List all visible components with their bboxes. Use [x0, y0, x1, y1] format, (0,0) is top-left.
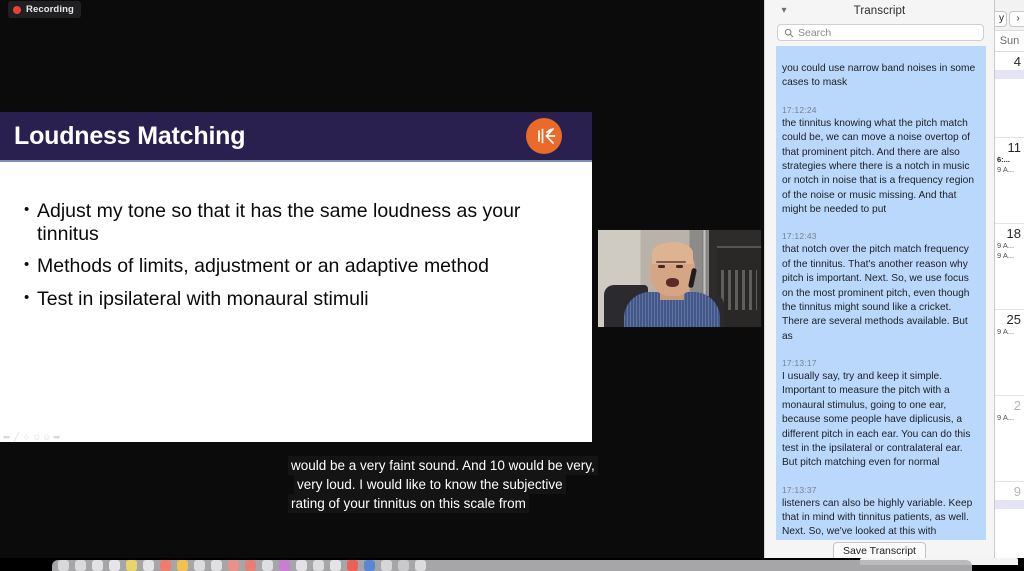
calendar-today-button[interactable]: y — [995, 11, 1007, 27]
transcript-entry[interactable]: you could use narrow band noises in some… — [776, 62, 986, 98]
slide-header: Loudness Matching — [0, 112, 592, 162]
calendar-date-number: 18 — [995, 226, 1021, 241]
dock-icon-reminders[interactable] — [143, 560, 154, 571]
recording-label: Recording — [26, 4, 74, 15]
search-input[interactable]: Search — [777, 24, 984, 41]
screen-share-stage: Recording > Loudness Matching — [0, 0, 764, 558]
caption-line: rating of your tinnitus on this scale fr… — [288, 494, 529, 513]
calendar-window[interactable]: y › Sun 4 11 6:... 9 A... 18 9 A... 9 A.… — [995, 0, 1024, 562]
transcript-entry-text-partial — [782, 46, 980, 62]
calendar-day-cell[interactable]: 4 — [995, 52, 1024, 138]
caption-line: would be a very faint sound. And 10 woul… — [288, 456, 598, 475]
calendar-date-number: 11 — [995, 140, 1021, 155]
transcript-timestamp: 17:13:17 — [782, 351, 980, 370]
dock-icon-pages[interactable] — [330, 560, 341, 571]
transcript-timestamp: 17:13:37 — [782, 478, 980, 497]
transcript-entry[interactable]: 17:13:17 I usually say, try and keep it … — [776, 351, 986, 478]
pen-tool-icon[interactable]: ╱ — [12, 433, 21, 442]
dock-icon-terminal[interactable] — [381, 560, 392, 571]
slide-bullet-text: Methods of limits, adjustment or an adap… — [37, 255, 570, 278]
dock-icon-mail[interactable] — [109, 560, 120, 571]
dock-icon-maps[interactable] — [228, 560, 239, 571]
video-bottles — [721, 270, 757, 310]
caption-line: very loud. I would like to know the subj… — [294, 475, 566, 494]
dock-icon-photos[interactable] — [177, 560, 188, 571]
calendar-event[interactable]: 6:... — [995, 155, 1021, 165]
calendar-day-cell[interactable]: 2 9 A... — [995, 396, 1024, 482]
bullet-marker-icon: • — [24, 200, 37, 246]
caption-row: very loud. I would like to know the subj… — [288, 475, 668, 494]
transcript-timestamp: 17:12:43 — [782, 224, 980, 243]
transcript-entry[interactable]: 17:13:37 listeners can also be highly va… — [776, 478, 986, 541]
calendar-event[interactable]: 9 A... — [995, 165, 1021, 175]
calendar-day-cell[interactable]: 25 9 A... — [995, 310, 1024, 396]
calendar-date-number: 25 — [995, 312, 1021, 327]
presenter-brow — [656, 261, 686, 263]
presenter-mouth — [666, 278, 679, 287]
calendar-day-cell[interactable]: 18 9 A... 9 A... — [995, 224, 1024, 310]
calendar-next-button[interactable]: › — [1009, 11, 1024, 27]
sound-wave-icon — [526, 118, 562, 154]
caption-row: rating of your tinnitus on this scale fr… — [288, 494, 668, 513]
annotation-toolbar[interactable]: ⬅ ╱ ○ ☺ ☺ ➡ — [2, 433, 61, 442]
dock-icon-podcasts[interactable] — [279, 560, 290, 571]
dock-icon-finder[interactable] — [58, 560, 69, 571]
transcript-entry[interactable]: 17:12:24 the tinnitus knowing what the p… — [776, 98, 986, 225]
slide-title: Loudness Matching — [14, 124, 526, 149]
calendar-day-cell[interactable]: 9 — [995, 482, 1024, 562]
slide-bullet: • Adjust my tone so that it has the same… — [24, 200, 570, 246]
transcript-entry-text: I usually say, try and keep it simple. I… — [782, 370, 980, 478]
dock-bar[interactable] — [52, 560, 972, 571]
transcript-entry[interactable]: 17:12:43 that notch over the pitch match… — [776, 224, 986, 351]
dock-icon-launchpad[interactable] — [75, 560, 86, 571]
ellipse-tool-icon[interactable]: ○ — [22, 433, 31, 442]
dock-icon-trash[interactable] — [415, 560, 426, 571]
emoji-tool-icon[interactable]: ☺ — [42, 433, 51, 442]
recording-dot-icon — [13, 6, 21, 14]
closed-captions: would be a very faint sound. And 10 woul… — [288, 456, 668, 513]
dock-icon-notes[interactable] — [126, 560, 137, 571]
slide-bullet: • Test in ipsilateral with monaural stim… — [24, 288, 570, 311]
transcript-header: ▾ Transcript — [765, 0, 994, 22]
presenter-eye — [676, 265, 683, 268]
transcript-entry[interactable] — [776, 46, 986, 62]
bullet-marker-icon: • — [24, 255, 37, 278]
dock-icon-appstore[interactable] — [262, 560, 273, 571]
dock-icon-safari[interactable] — [92, 560, 103, 571]
transcript-list[interactable]: you could use narrow band noises in some… — [776, 46, 986, 541]
arrow-left-tool-icon[interactable]: ⬅ — [2, 433, 11, 442]
calendar-event[interactable]: 9 A... — [995, 327, 1021, 337]
presenter-eye — [658, 265, 665, 268]
transcript-entry-text: you could use narrow band noises in some… — [782, 62, 980, 98]
bullet-marker-icon: • — [24, 288, 37, 311]
calendar-event[interactable]: 9 A... — [995, 251, 1021, 261]
dock-icon-music[interactable] — [160, 560, 171, 571]
calendar-toolbar: y › — [995, 0, 1024, 31]
recording-indicator: Recording — [8, 1, 81, 18]
macos-dock[interactable] — [0, 558, 1024, 571]
calendar-day-tint — [995, 70, 1024, 79]
transcript-entry-text: listeners can also be highly variable. K… — [782, 497, 980, 541]
transcript-entry-text: that notch over the pitch match frequenc… — [782, 243, 980, 351]
calendar-date-number: 9 — [995, 484, 1021, 499]
presentation-slide: Loudness Matching • Adjust my tone — [0, 112, 592, 442]
transcript-entry-text: the tinnitus knowing what the pitch matc… — [782, 117, 980, 225]
dock-icon-calendar[interactable] — [211, 560, 222, 571]
arrow-right-tool-icon[interactable]: ➡ — [52, 433, 61, 442]
slide-bullet-text: Test in ipsilateral with monaural stimul… — [37, 288, 570, 311]
slide-bullet-text: Adjust my tone so that it has the same l… — [37, 200, 570, 246]
dock-icon-word[interactable] — [364, 560, 375, 571]
calendar-event[interactable]: 9 A... — [995, 241, 1021, 251]
transcript-panel: ▾ Transcript Search you could use narrow… — [764, 0, 995, 562]
calendar-day-tint — [995, 500, 1024, 509]
dock-icon-zoom[interactable] — [347, 560, 358, 571]
dock-icon-settings[interactable] — [398, 560, 409, 571]
slide-bullet: • Methods of limits, adjustment or an ad… — [24, 255, 570, 278]
presenter-video-tile[interactable] — [597, 229, 762, 328]
chevron-down-icon[interactable]: ▾ — [777, 4, 791, 18]
dock-icon-news[interactable] — [245, 560, 256, 571]
caption-row: would be a very faint sound. And 10 woul… — [288, 456, 668, 475]
transcript-timestamp: 17:12:24 — [782, 98, 980, 117]
calendar-day-of-week-header: Sun — [995, 31, 1024, 52]
dock-icon-keynote[interactable] — [296, 560, 307, 571]
calendar-event[interactable]: 9 A... — [995, 413, 1021, 423]
calendar-date-number: 4 — [995, 54, 1021, 69]
search-placeholder: Search — [798, 27, 831, 39]
emoji-tool-icon[interactable]: ☺ — [32, 433, 41, 442]
search-icon — [784, 28, 794, 38]
calendar-day-cell[interactable]: 11 6:... 9 A... — [995, 138, 1024, 224]
dock-icon-messages[interactable] — [194, 560, 205, 571]
dock-icon-numbers[interactable] — [313, 560, 324, 571]
transcript-title: Transcript — [765, 5, 994, 17]
calendar-date-number: 2 — [995, 398, 1021, 413]
slide-bullet-list: • Adjust my tone so that it has the same… — [0, 162, 592, 311]
